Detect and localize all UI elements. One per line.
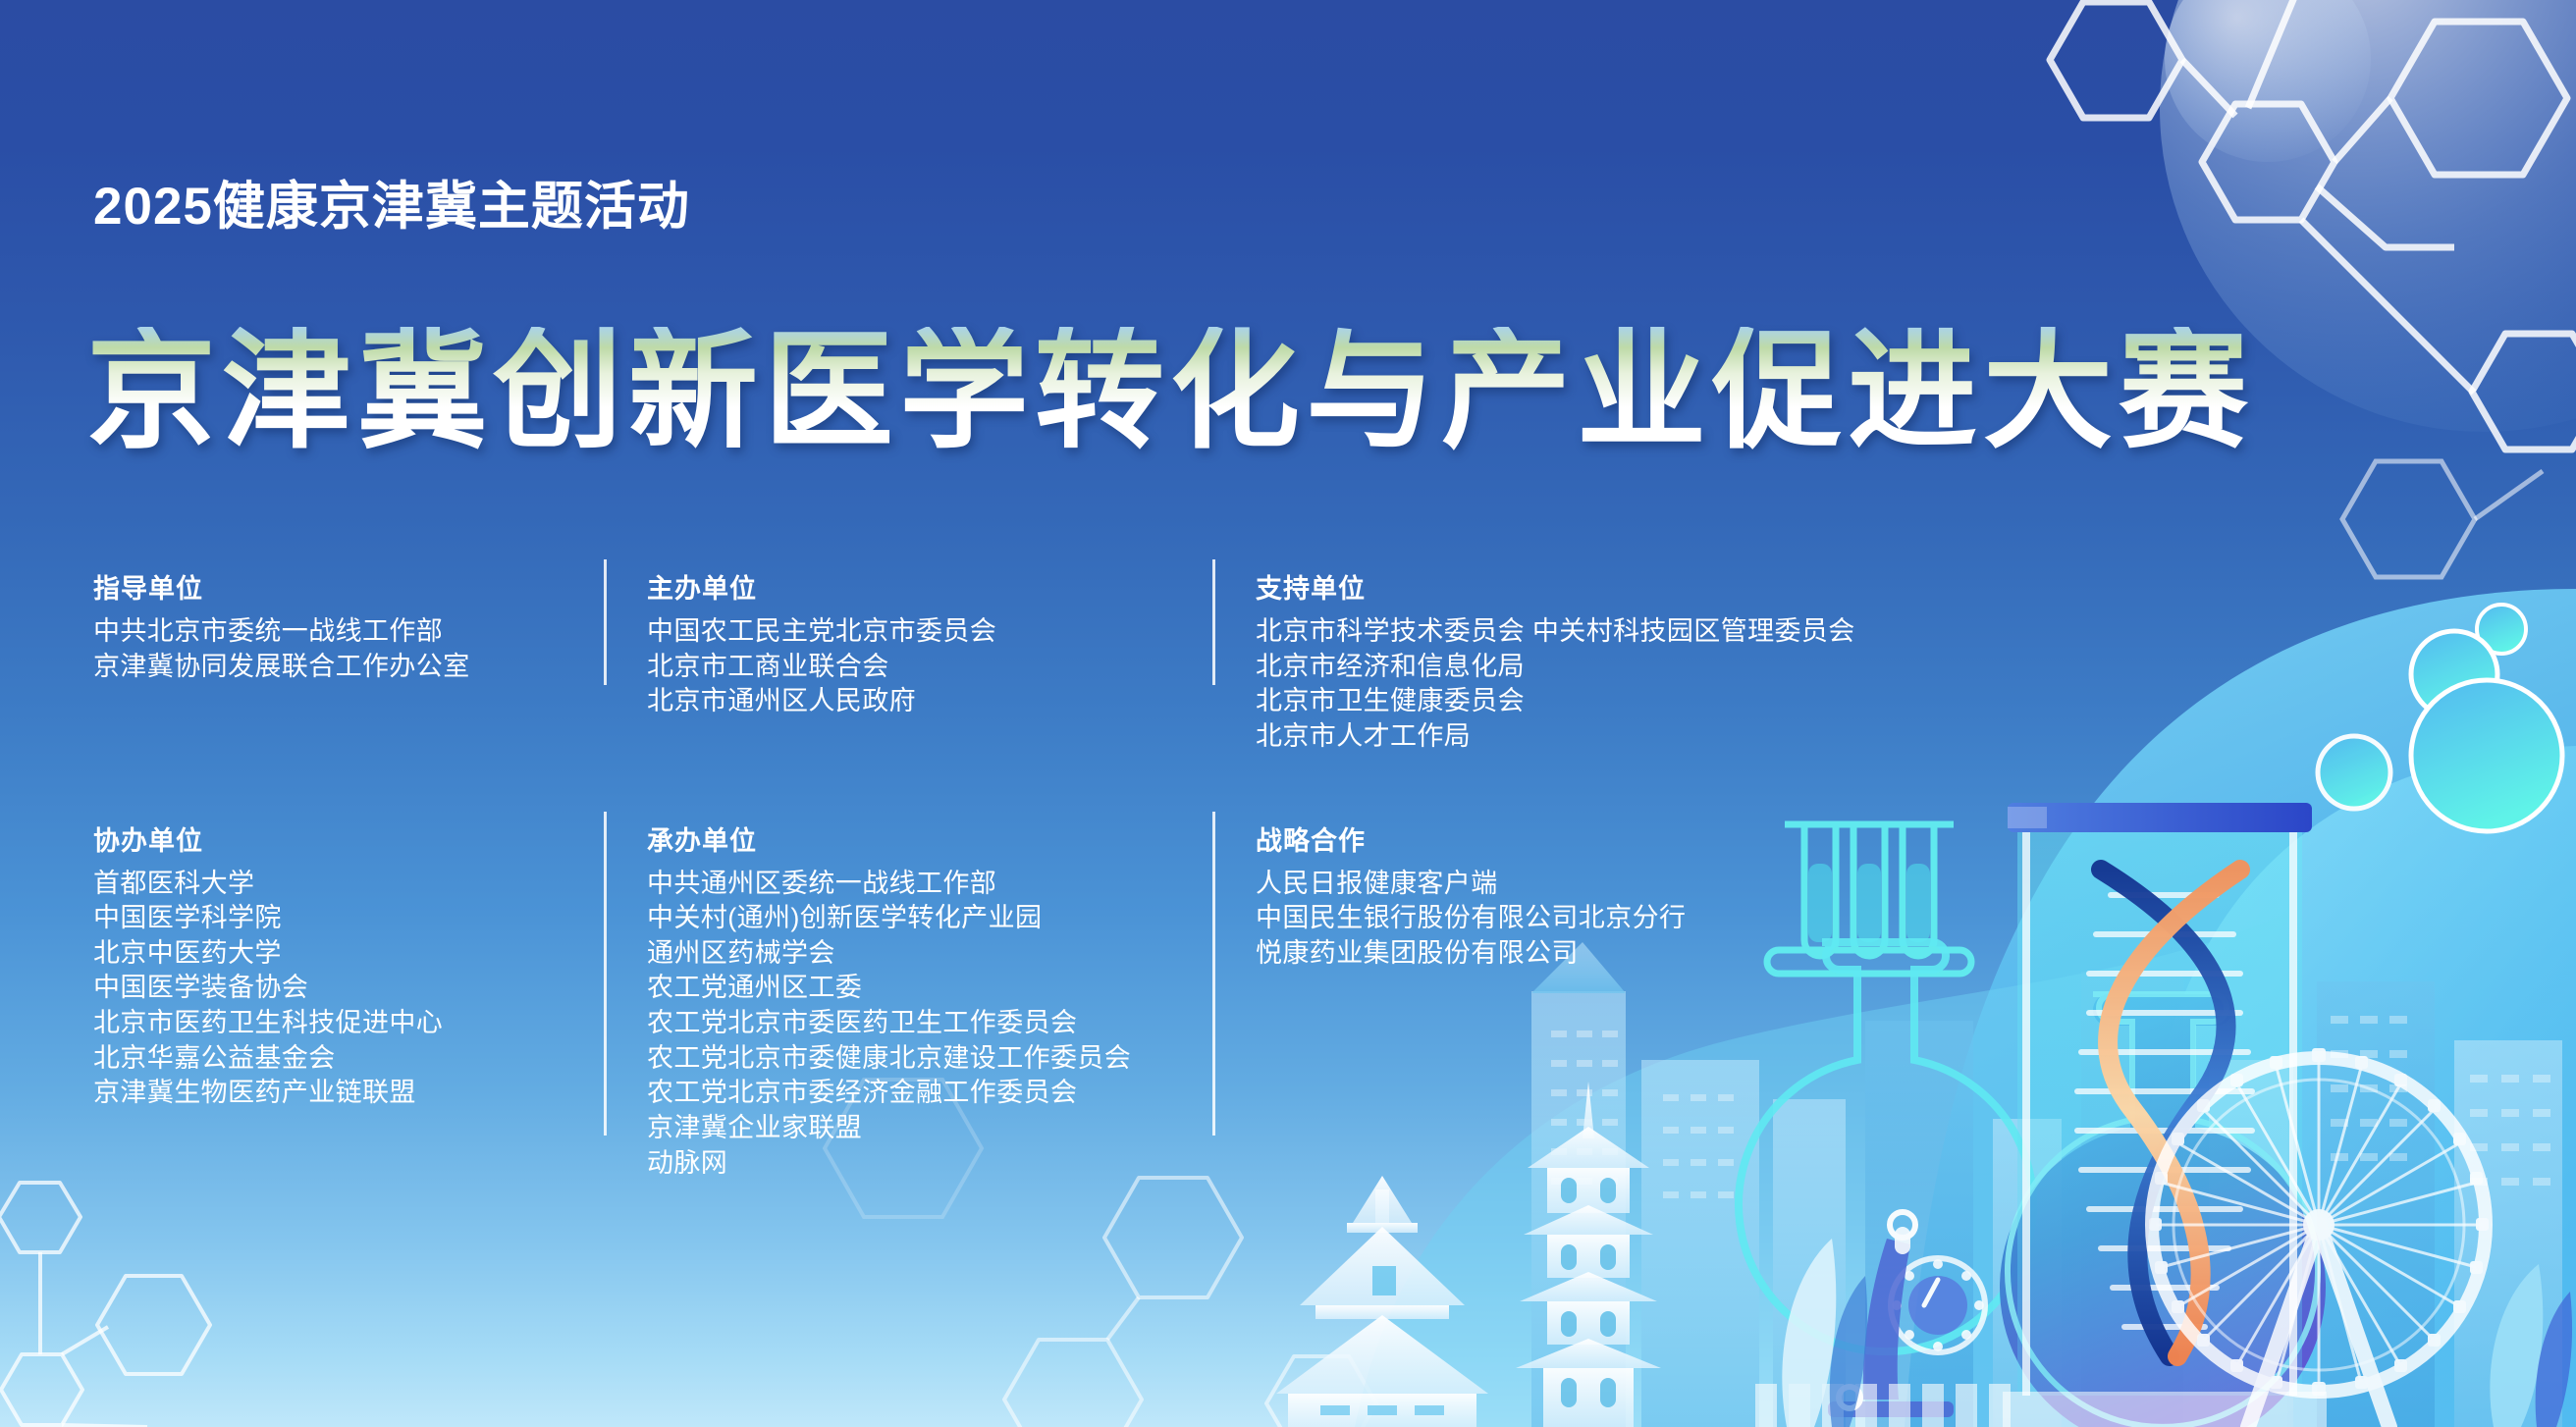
org-item: 北京市通州区人民政府: [647, 684, 1173, 719]
org-item: 中共通州区委统一战线工作部: [647, 867, 1173, 902]
org-block-title: 主办单位: [647, 567, 1173, 606]
organization-row-2: 协办单位 首都医科大学 中国医学科学院 北京中医药大学 中国医学装备协会 北京市…: [93, 819, 2116, 1182]
org-item: 人民日报健康客户端: [1256, 867, 2057, 902]
org-item: 中国农工民主党北京市委员会: [647, 614, 1173, 650]
org-item: 农工党北京市委经济金融工作委员会: [647, 1076, 1173, 1111]
leaf-decoration: [1782, 1239, 2572, 1427]
hexagon-network-bottom-left: [0, 1183, 210, 1427]
org-item: 农工党北京市委健康北京建设工作委员会: [647, 1041, 1173, 1077]
org-item: 中国医学装备协会: [93, 971, 564, 1006]
organization-grid: 指导单位 中共北京市委统一战线工作部 京津冀协同发展联合工作办公室 主办单位 中…: [93, 567, 2116, 1181]
org-item: 中关村(通州)创新医学转化产业园: [647, 901, 1173, 936]
podium-blocks: [1755, 1384, 2011, 1427]
org-block-coorganizer: 协办单位 首都医科大学 中国医学科学院 北京中医药大学 中国医学装备协会 北京市…: [93, 819, 604, 1182]
hexagon-network-bottom-center: [1004, 1178, 1376, 1427]
org-item: 动脉网: [647, 1146, 1173, 1182]
hexagon-network-upper-right-2: [2342, 461, 2543, 577]
org-item: 农工党北京市委医药卫生工作委员会: [647, 1006, 1173, 1041]
org-item: 京津冀生物医药产业链联盟: [93, 1076, 564, 1111]
glow-sphere-small: [2165, 0, 2371, 162]
event-main-title: 京津冀创新医学转化与产业促进大赛: [86, 327, 2254, 456]
org-block-host: 主办单位 中国农工民主党北京市委员会 北京市工商业联合会 北京市通州区人民政府: [604, 567, 1212, 755]
bubble-group: [2318, 605, 2562, 831]
org-block-title: 战略合作: [1256, 819, 2057, 858]
org-item: 北京市工商业联合会: [647, 650, 1173, 685]
org-item: 京津冀企业家联盟: [647, 1111, 1173, 1146]
background-blob-2: [2120, 746, 2576, 1427]
org-block-title: 指导单位: [93, 567, 564, 606]
ferris-wheel-icon: [2149, 1048, 2489, 1427]
org-block-support: 支持单位 北京市科学技术委员会 中关村科技园区管理委员会 北京市经济和信息化局 …: [1212, 567, 2096, 755]
org-item: 北京华嘉公益基金会: [93, 1041, 564, 1077]
org-item: 北京中医药大学: [93, 936, 564, 972]
org-block-title: 协办单位: [93, 819, 564, 858]
org-item: 中国医学科学院: [93, 901, 564, 936]
org-item: 北京市科学技术委员会 中关村科技园区管理委员会: [1256, 614, 2057, 650]
organization-row-1: 指导单位 中共北京市委统一战线工作部 京津冀协同发展联合工作办公室 主办单位 中…: [93, 567, 2116, 755]
event-subtitle: 2025健康京津冀主题活动: [93, 165, 690, 239]
org-item: 北京市经济和信息化局: [1256, 650, 2057, 685]
org-block-strategic: 战略合作 人民日报健康客户端 中国民生银行股份有限公司北京分行 悦康药业集团股份…: [1212, 819, 2096, 1182]
org-item: 通州区药械学会: [647, 936, 1173, 972]
org-item: 悦康药业集团股份有限公司: [1256, 936, 2057, 972]
poster-canvas: 2025健康京津冀主题活动 京津冀创新医学转化与产业促进大赛 指导单位 中共北京…: [0, 0, 2576, 1427]
org-block-title: 承办单位: [647, 819, 1173, 858]
org-item: 北京市人才工作局: [1256, 719, 2057, 755]
temple-of-heaven-icon: [1276, 1176, 1488, 1427]
org-block-organizer: 承办单位 中共通州区委统一战线工作部 中关村(通州)创新医学转化产业园 通州区药…: [604, 819, 1212, 1182]
panel-base: [2003, 1392, 2327, 1427]
org-item: 京津冀协同发展联合工作办公室: [93, 650, 564, 685]
org-block-title: 支持单位: [1256, 567, 2057, 606]
org-item: 北京市医药卫生科技促进中心: [93, 1006, 564, 1041]
dna-helix-icon: [2101, 870, 2240, 1356]
org-item: 中共北京市委统一战线工作部: [93, 614, 564, 650]
org-item: 北京市卫生健康委员会: [1256, 684, 2057, 719]
org-item: 首都医科大学: [93, 867, 564, 902]
org-block-guidance: 指导单位 中共北京市委统一战线工作部 京津冀协同发展联合工作办公室: [93, 567, 604, 755]
org-item: 中国民生银行股份有限公司北京分行: [1256, 901, 2057, 936]
org-item: 农工党通州区工委: [647, 971, 1173, 1006]
microscope-icon: [1828, 1212, 1985, 1417]
